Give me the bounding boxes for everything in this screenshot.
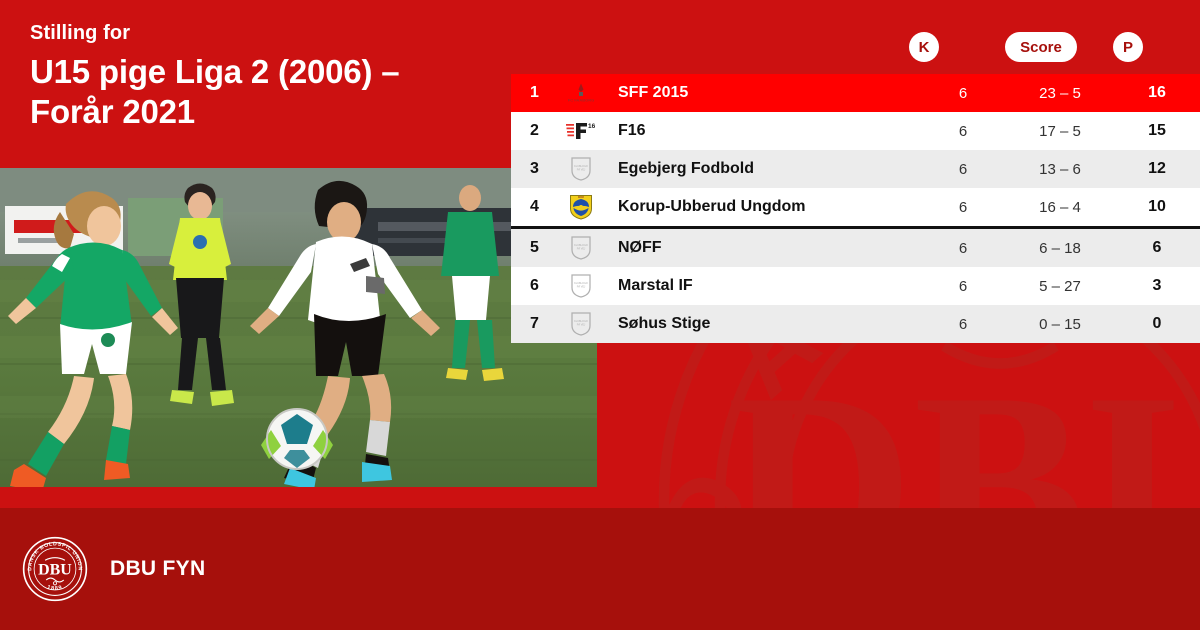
goal-score: 23 – 5 — [1006, 85, 1114, 102]
row-position: 7 — [511, 315, 558, 333]
column-header-score: Score — [1005, 32, 1077, 62]
svg-text:PÅ VEJ: PÅ VEJ — [577, 248, 586, 251]
team-name: Egebjerg Fodbold — [604, 160, 920, 178]
points: 10 — [1114, 198, 1200, 216]
club-crest: KLUBLOGO PÅ VEJ — [558, 311, 604, 337]
goal-score: 0 – 15 — [1006, 316, 1114, 333]
f16-crest: 16 — [566, 121, 596, 141]
points: 16 — [1114, 84, 1200, 102]
svg-text:PÅ VEJ: PÅ VEJ — [577, 286, 586, 289]
fc-faaborg-crest: FC FAABORG — [562, 82, 600, 104]
row-position: 6 — [511, 277, 558, 295]
club-crest: KLUBLOGO PÅ VEJ — [558, 235, 604, 261]
matches-played: 6 — [920, 240, 1006, 257]
matches-played: 6 — [920, 199, 1006, 216]
club-crest: KUU — [558, 194, 604, 220]
table-row[interactable]: 2 16 F16 6 17 – 5 15 — [511, 112, 1200, 150]
header-kicker: Stilling for — [30, 22, 482, 44]
points: 15 — [1114, 122, 1200, 140]
generic-club-shield-icon: KLUBLOGO PÅ VEJ — [570, 156, 592, 182]
column-header-points: P — [1113, 32, 1143, 62]
matches-played: 6 — [920, 85, 1006, 102]
dbu-logo: DANSK BOLDSPIL UNION 1889 DBU — [22, 536, 88, 602]
club-crest: FC FAABORG — [558, 80, 604, 106]
generic-club-shield-icon: KLUBLOGO PÅ VEJ — [570, 311, 592, 337]
points: 0 — [1114, 315, 1200, 333]
team-name: Marstal IF — [604, 277, 920, 295]
svg-text:KUU: KUU — [578, 196, 584, 199]
svg-text:KLUBLOGO: KLUBLOGO — [574, 244, 588, 247]
team-name: F16 — [604, 122, 920, 140]
matches-played: 6 — [920, 123, 1006, 140]
matches-played: 6 — [920, 161, 1006, 178]
svg-text:KLUBLOGO: KLUBLOGO — [574, 320, 588, 323]
table-row[interactable]: 7 KLUBLOGO PÅ VEJ Søhus Stige 6 0 – 15 0 — [511, 305, 1200, 343]
row-position: 5 — [511, 239, 558, 257]
team-name: Søhus Stige — [604, 315, 920, 333]
generic-club-shield-icon: KLUBLOGO PÅ VEJ — [570, 273, 592, 299]
club-crest: 16 — [558, 118, 604, 144]
points: 6 — [1114, 239, 1200, 257]
page-title: U15 pige Liga 2 (2006) – Forår 2021 — [30, 52, 482, 133]
goal-score: 16 – 4 — [1006, 199, 1114, 216]
matches-played: 6 — [920, 278, 1006, 295]
standings-table: K Score P 1 FC FAABORG SFF 2015 6 23 – 5… — [511, 26, 1200, 343]
table-row[interactable]: 5 KLUBLOGO PÅ VEJ NØFF 6 6 – 18 6 — [511, 229, 1200, 267]
match-photo — [0, 168, 597, 487]
footer-bar: DANSK BOLDSPIL UNION 1889 DBU DBU FYN — [0, 508, 1200, 630]
row-position: 1 — [511, 84, 558, 102]
goal-score: 6 – 18 — [1006, 240, 1114, 257]
svg-text:DBU: DBU — [38, 562, 72, 579]
generic-club-shield-icon: KLUBLOGO PÅ VEJ — [570, 235, 592, 261]
team-name: NØFF — [604, 239, 920, 257]
svg-text:KLUBLOGO: KLUBLOGO — [574, 165, 588, 168]
svg-text:PÅ VEJ: PÅ VEJ — [577, 169, 586, 172]
goal-score: 13 – 6 — [1006, 161, 1114, 178]
table-row[interactable]: 1 FC FAABORG SFF 2015 6 23 – 5 16 — [511, 74, 1200, 112]
goal-score: 5 – 27 — [1006, 278, 1114, 295]
goal-score: 17 – 5 — [1006, 123, 1114, 140]
team-name: SFF 2015 — [604, 84, 920, 102]
svg-text:16: 16 — [588, 123, 596, 130]
header-block: Stilling for U15 pige Liga 2 (2006) – Fo… — [0, 0, 512, 168]
table-row[interactable]: 6 KLUBLOGO PÅ VEJ Marstal IF 6 5 – 27 3 — [511, 267, 1200, 305]
korup-crest: KUU — [569, 194, 593, 220]
svg-text:1889: 1889 — [46, 585, 63, 592]
matches-played: 6 — [920, 316, 1006, 333]
club-crest: KLUBLOGO PÅ VEJ — [558, 156, 604, 182]
column-header-matches: K — [909, 32, 939, 62]
row-position: 2 — [511, 122, 558, 140]
footer-label: DBU FYN — [110, 557, 205, 581]
team-name: Korup-Ubberud Ungdom — [604, 198, 920, 216]
table-column-headers: K Score P — [511, 26, 1200, 74]
row-position: 3 — [511, 160, 558, 178]
svg-text:KLUBLOGO: KLUBLOGO — [574, 282, 588, 285]
points: 12 — [1114, 160, 1200, 178]
row-position: 4 — [511, 198, 558, 216]
table-row[interactable]: 4 KUU Korup-Ubberud Ungdom 6 16 – 4 10 — [511, 188, 1200, 229]
club-crest: KLUBLOGO PÅ VEJ — [558, 273, 604, 299]
svg-text:FC FAABORG: FC FAABORG — [568, 98, 594, 103]
svg-text:PÅ VEJ: PÅ VEJ — [577, 324, 586, 327]
points: 3 — [1114, 277, 1200, 295]
table-row[interactable]: 3 KLUBLOGO PÅ VEJ Egebjerg Fodbold 6 13 … — [511, 150, 1200, 188]
